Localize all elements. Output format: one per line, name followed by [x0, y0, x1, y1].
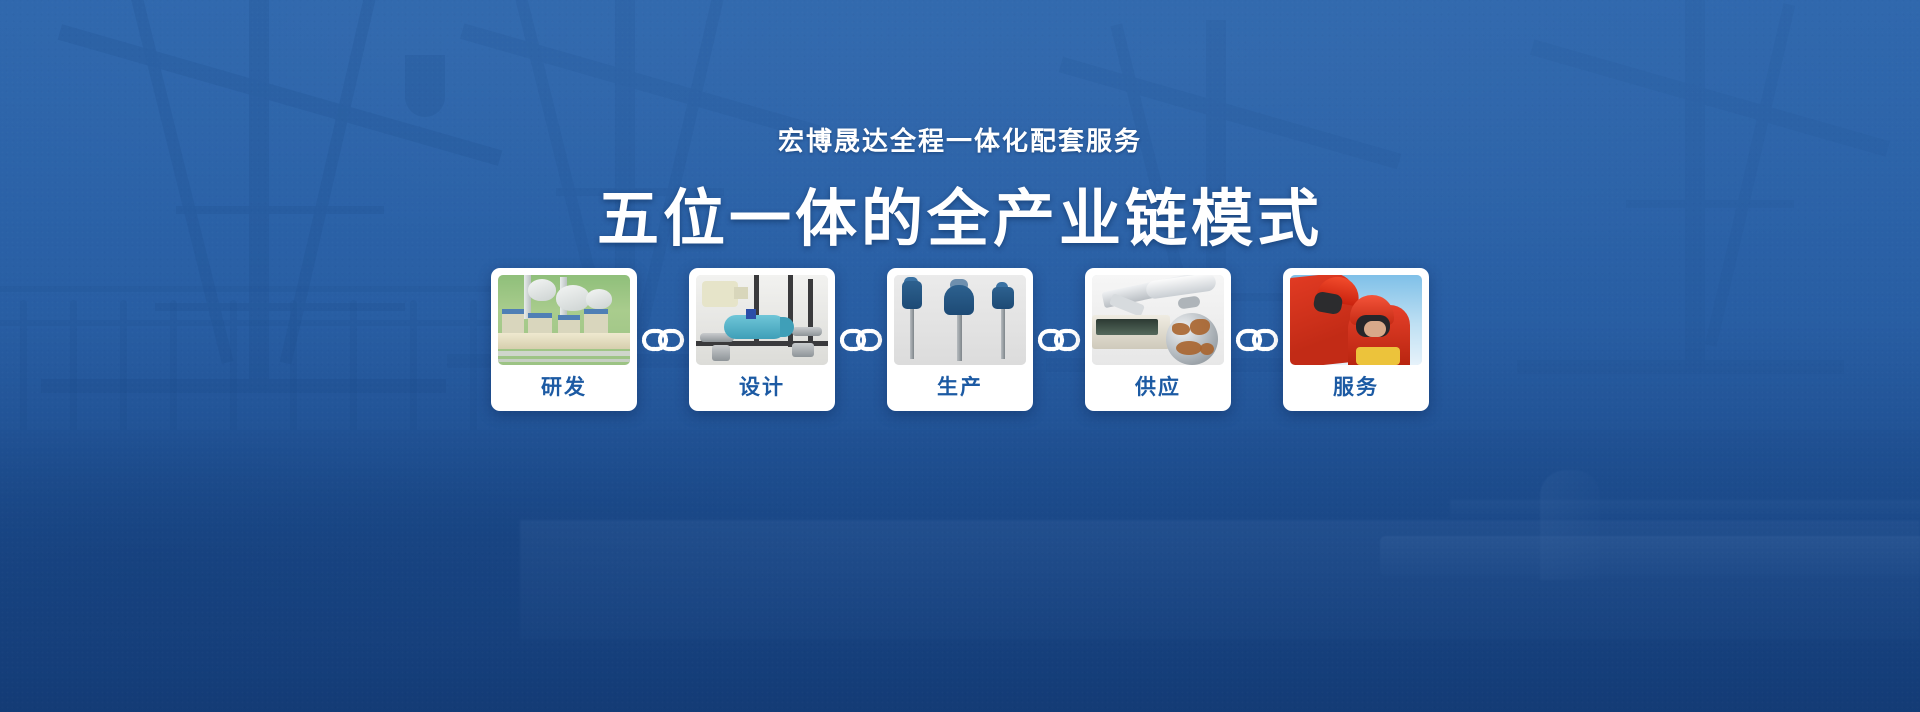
chain-link-icon [1033, 270, 1085, 410]
chain-card-label: 生产 [937, 365, 983, 411]
chain-card-thumbnail [1290, 275, 1422, 365]
chain-card-sheji[interactable]: 设计 [689, 268, 835, 411]
value-chain-list: 研发 [0, 268, 1920, 411]
chain-link-icon [1231, 270, 1283, 410]
banner-title: 五位一体的全产业链模式 [0, 168, 1920, 258]
chain-card-label: 服务 [1333, 365, 1379, 411]
chain-card-thumbnail [894, 275, 1026, 365]
chain-link-icon [835, 270, 887, 410]
chain-card-fuwu[interactable]: 服务 [1283, 268, 1429, 411]
chain-link-icon [637, 270, 689, 410]
chain-card-thumbnail [696, 275, 828, 365]
chain-card-gongying[interactable]: 供应 [1085, 268, 1231, 411]
chain-card-shengchan[interactable]: 生产 [887, 268, 1033, 411]
chain-card-thumbnail [1092, 275, 1224, 365]
chain-card-label: 供应 [1135, 365, 1181, 411]
chain-card-yanfa[interactable]: 研发 [491, 268, 637, 411]
chain-card-thumbnail [498, 275, 630, 365]
hero-banner: 宏博晟达全程一体化配套服务 五位一体的全产业链模式 研发 [0, 0, 1920, 712]
banner-subtitle: 宏博晟达全程一体化配套服务 [0, 121, 1920, 158]
chain-card-label: 设计 [739, 365, 785, 411]
chain-card-label: 研发 [541, 365, 587, 411]
